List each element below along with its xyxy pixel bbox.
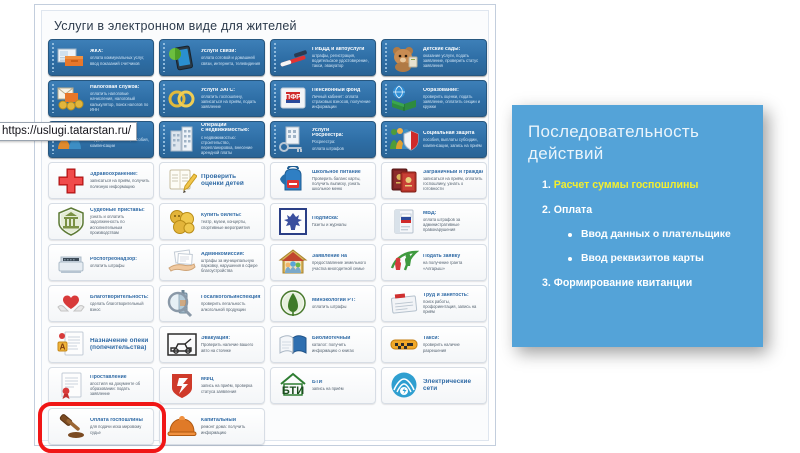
documents-folder-icon (56, 43, 86, 72)
service-tile[interactable]: Роспотребнадзор:оплатить штрафы (48, 244, 154, 281)
portal-content-area: Услуги в электронном виде для жителей ЖК… (41, 10, 489, 441)
service-tile[interactable]: Эвакуация:Проверить наличие вашего авто … (159, 326, 265, 363)
service-tile[interactable]: МВД:оплата штрафов за административные п… (381, 203, 487, 240)
tile-row: Здравоохранение:записаться на приём, пол… (48, 162, 482, 199)
services-tile-grid: ЖКХ:оплата коммунальных услуг, ввод пока… (48, 39, 482, 445)
tile-text: МФЦзапись на приём, проверка статуса зая… (201, 377, 264, 394)
tile-text: Такси:проверить наличие разрешения (423, 336, 486, 353)
tile-subtext: проверить оценки, подать заявление, опла… (423, 94, 483, 110)
service-tile[interactable]: Админкомиссия:штрафы за муниципальную па… (159, 244, 265, 281)
service-tile[interactable]: Услуги ЗАГС:оплатить госпошлину, записат… (159, 80, 265, 117)
tile-subtext: запись на приём, проверка статуса заявле… (201, 383, 261, 393)
magnifier-bottle-icon (167, 289, 197, 318)
service-tile[interactable]: Электрическиесети (381, 367, 487, 404)
tile-heading: МВД: (423, 211, 483, 216)
tile-heading: Госалкогольинспекция: (201, 295, 261, 300)
tile-heading: Минэкологии РТ: (312, 298, 372, 303)
tile-subtext: для подачи иска мировому судье (90, 424, 150, 434)
tile-text: Админкомиссия:штрафы за муниципальную па… (201, 252, 264, 274)
tile-heading: Эвакуация: (201, 336, 261, 341)
tile-text: Операциис недвижимостью:с недвижимостью:… (201, 123, 264, 155)
heart-hands-icon (56, 289, 86, 318)
bti-logo-icon: БТИ (278, 371, 308, 400)
tile-heading: Услуги ЗАГС: (201, 88, 261, 93)
substep-item: Ввод данных о плательщике (568, 229, 751, 240)
tile-text: Подписка:Газеты и журналы (312, 216, 375, 228)
tile-text: Роспотребнадзор:оплатить штрафы (90, 257, 153, 269)
tile-text: Электрическиесети (423, 379, 486, 392)
forestry-emblem-icon (278, 289, 308, 318)
tile-heading: Подписка: (312, 216, 372, 221)
svg-text:БТИ: БТИ (282, 385, 304, 397)
tile-text: МВД:оплата штрафов за административные п… (423, 211, 486, 233)
tile-row: ЖКХ:оплата коммунальных услуг, ввод пока… (48, 39, 482, 76)
tile-heading: Судебные приставы: (90, 208, 150, 213)
bailiffs-emblem-icon (56, 207, 86, 236)
tile-text: Капитальныйремонт дома: получить информа… (201, 418, 264, 435)
red-cross-icon (56, 166, 86, 195)
tile-text: Заявление напредоставление земельного уч… (312, 254, 375, 271)
service-tile[interactable]: Проставлениеапостиля на документе об обр… (48, 367, 154, 404)
tile-subtext: оплата коммунальных услуг, ввод показани… (90, 55, 150, 65)
service-tile[interactable]: Госалкогольинспекция:проверить легальнос… (159, 285, 265, 322)
tile-heading: Детские сады: (423, 47, 483, 52)
tile-row: АНазначение опеки(попечительства)Эвакуац… (48, 326, 482, 363)
tow-truck-icon (167, 330, 197, 359)
tile-heading-line2: Росреестра: (312, 133, 372, 138)
tile-subtext: штрафы, регистрация, водительское удосто… (312, 53, 372, 69)
service-tile[interactable]: МФЦзапись на приём, проверка статуса зая… (159, 367, 265, 404)
tile-heading: Налоговая служба: (90, 85, 150, 90)
tile-subtext: проверить легальность алкогольной продук… (201, 301, 261, 311)
step-number: 1. (542, 179, 554, 191)
tile-subtext-line2: оплата штрафов (312, 146, 372, 151)
page-title: Услуги в электронном виде для жителей (48, 17, 482, 33)
wedding-rings-icon (167, 84, 197, 113)
tile-subtext: штрафы за муниципальную парковку, наруше… (201, 258, 261, 274)
tile-subtext: театр, музеи, концерты, спортивные мероп… (201, 219, 261, 229)
tile-subtext: с недвижимостью: строительство, переплан… (201, 135, 261, 156)
traffic-baton-icon (278, 43, 308, 72)
service-tile[interactable]: Социальная защитапособия, выплаты субсид… (381, 121, 487, 158)
service-tile[interactable]: УслугиРосреестра:Росреестра:оплата штраф… (270, 121, 376, 158)
tile-subtext: Проверить баланс карты, получить выписку… (312, 176, 372, 192)
tile-text: Социальная защитапособия, выплаты субсид… (423, 131, 486, 148)
eagle-emblem-icon (278, 207, 308, 236)
tile-heading: БТИ (312, 380, 372, 385)
notebook-pencil-icon (167, 166, 197, 195)
service-tile[interactable]: Оплата госпошлиныдля подачи иска мировом… (48, 408, 154, 445)
tile-heading: Труд и занятость: (423, 293, 483, 298)
theatre-masks-icon (167, 207, 197, 236)
service-tile[interactable]: Судебные приставы:узнать и оплатить задо… (48, 203, 154, 240)
key-building-icon (278, 125, 308, 154)
tile-text: Детские сады:оказание услуги, подать зая… (423, 47, 486, 69)
scales-icon (56, 248, 86, 277)
service-tile[interactable]: Минэкологии РТ:оплатить штрафы (270, 285, 376, 322)
tile-heading: ЖКХ: (90, 49, 150, 54)
service-tile[interactable]: БТИБТИзапись на приём (270, 367, 376, 404)
tile-subtext: оплатить налоговые начисления, налоговый… (90, 91, 150, 112)
tile-heading: Такси: (423, 336, 483, 341)
grant-people-icon (389, 248, 419, 277)
tile-subtext: поиск работы, профориентация, запись на … (423, 299, 483, 315)
tile-heading: Образование: (423, 88, 483, 93)
step-number: 3. (542, 277, 554, 289)
tile-heading: Капитальный (201, 418, 261, 423)
tile-subtext: оплатить штрафы (312, 304, 372, 309)
tile-heading: Социальная защита (423, 131, 483, 136)
apostille-doc-icon (56, 371, 86, 400)
tile-subtext: запись на приём (312, 386, 372, 391)
tile-text: Образование:проверить оценки, подать зая… (423, 88, 486, 110)
hard-hat-icon (167, 412, 197, 441)
open-book-icon (278, 330, 308, 359)
tile-subtext: Росреестра: (312, 139, 372, 144)
tile-text: Пенсионный фондЛичный кабинет: оплата ст… (312, 88, 375, 110)
service-tile[interactable]: Заграничный и гражданский паспорт:записа… (381, 162, 487, 199)
tile-text: ЖКХ:оплата коммунальных услуг, ввод пока… (90, 49, 153, 66)
tile-heading: Услуги связи: (201, 49, 261, 54)
tile-row: Налоговая служба:оплатить налоговые начи… (48, 80, 482, 117)
tile-text: Труд и занятость:поиск работы, профориен… (423, 293, 486, 315)
service-tile[interactable]: Образование:проверить оценки, подать зая… (381, 80, 487, 117)
substeps-list: Ввод данных о плательщикеВвод реквизитов… (542, 229, 751, 264)
school-backpack-icon (278, 166, 308, 195)
tile-subtext: Личный кабинет: оплата страховых взносов… (312, 94, 372, 110)
svg-text:ПФР: ПФР (285, 94, 301, 101)
service-tile[interactable]: Благотворительность:сделать благотворите… (48, 285, 154, 322)
passport-icon (389, 166, 419, 195)
tile-subtext: оказание услуги, подать заявление, прове… (423, 53, 483, 69)
tile-subtext: узнать и оплатить задолженность по испол… (90, 214, 150, 235)
tile-heading: МФЦ (201, 377, 261, 382)
step-item: 3. Формирование квитанции (542, 277, 751, 289)
tile-text: Эвакуация:Проверить наличие вашего авто … (201, 336, 264, 353)
svg-text:А: А (60, 343, 66, 352)
tile-text: УслугиРосреестра:Росреестра:оплата штраф… (312, 128, 375, 151)
step-label: Оплата (554, 204, 592, 216)
pension-fund-icon: ПФР (278, 84, 308, 113)
tile-text: Оплата госпошлиныдля подачи иска мировом… (90, 418, 153, 435)
step-label: Формирование квитанции (554, 277, 693, 289)
service-tile[interactable]: АНазначение опеки(попечительства) (48, 326, 154, 363)
service-tile[interactable]: Купить билеты:театр, музеи, концерты, сп… (159, 203, 265, 240)
sequence-of-actions-panel: Последовательность действий 1. Расчет су… (512, 105, 763, 347)
tile-text: ГИБДД и автоуслугиштрафы, регистрация, в… (312, 47, 375, 69)
steps-panel-title: Последовательность действий (528, 121, 751, 165)
tile-subtext: записаться на приём, оплатить госпошлину… (423, 176, 483, 192)
tile-subtext: оплата сотовой и домашней связи, интерне… (201, 55, 261, 65)
tile-text: Благотворительность:сделать благотворите… (90, 295, 153, 312)
tile-text: Купить билеты:театр, музеи, концерты, сп… (201, 213, 264, 230)
tile-text: Школьное питаниеПроверить баланс карты, … (312, 170, 375, 192)
tile-heading: Админкомиссия: (201, 252, 261, 257)
tile-heading: Благотворительность: (90, 295, 150, 300)
tile-heading: Оплата госпошлины (90, 418, 150, 423)
service-tile[interactable]: Детские сады:оказание услуги, подать зая… (381, 39, 487, 76)
tile-row: Проставлениеапостиля на документе об обр… (48, 367, 482, 404)
teddy-bear-icon (389, 43, 419, 72)
shield-family-icon (389, 125, 419, 154)
tile-subtext: апостиля на документе об образовании: по… (90, 381, 150, 397)
hand-papers-icon (167, 248, 197, 277)
tile-subtext: проверить наличие разрешения (423, 342, 483, 352)
substep-item: Ввод реквизитов карты (568, 253, 751, 264)
tile-subtext: ремонт дома: получить информацию (201, 424, 261, 434)
tax-envelope-icon (56, 84, 86, 113)
service-tile[interactable]: Подписка:Газеты и журналы (270, 203, 376, 240)
service-tile[interactable]: ГИБДД и автоуслугиштрафы, регистрация, в… (270, 39, 376, 76)
tile-text: Здравоохранение:записаться на приём, пол… (90, 172, 153, 189)
tile-text: Проставлениеапостиля на документе об обр… (90, 375, 153, 397)
guardianship-doc-icon: А (56, 330, 86, 359)
tile-subtext: предоставление земельного участка многод… (312, 260, 372, 270)
tile-subtext: каталог: получить информацию о книгах (312, 342, 372, 352)
service-tile[interactable]: Школьное питаниеПроверить баланс карты, … (270, 162, 376, 199)
tile-text: Назначение опеки(попечительства) (90, 338, 153, 351)
tile-heading: Заявление на (312, 254, 372, 259)
tile-subtext: оплатить госпошлину, записаться на приём… (201, 94, 261, 110)
tile-row: Благотворительность:сделать благотворите… (48, 285, 482, 322)
tile-subtext: записаться на приём, получить полезную и… (90, 178, 150, 188)
tile-subtext: Газеты и журналы (312, 222, 372, 227)
tile-heading-line2: оценки детей (201, 181, 261, 187)
tile-text: БТИзапись на приём (312, 380, 375, 392)
tile-heading: Купить билеты: (201, 213, 261, 218)
tile-heading: Здравоохранение: (90, 172, 150, 177)
tile-heading: Библиотечный (312, 336, 372, 341)
tile-heading: Роспотребнадзор: (90, 257, 150, 262)
step-item: 2. Оплата (542, 204, 751, 216)
step-number: 2. (542, 204, 554, 216)
family-house-icon (278, 248, 308, 277)
tile-text: Заграничный и гражданский паспорт:записа… (423, 170, 486, 192)
service-tile[interactable]: Операциис недвижимостью:с недвижимостью:… (159, 121, 265, 158)
tile-heading: ГИБДД и автоуслуги (312, 47, 372, 52)
status-bar-url-tooltip: https://uslugi.tatarstan.ru/ (0, 122, 137, 141)
tile-heading: Школьное питание (312, 170, 372, 175)
tile-heading-line2: с недвижимостью: (201, 128, 261, 133)
tile-heading: Пенсионный фонд (312, 88, 372, 93)
service-tile[interactable]: Труд и занятость:поиск работы, профориен… (381, 285, 487, 322)
tile-subtext: оплата штрафов за административные право… (423, 217, 483, 233)
tile-heading: Заграничный и гражданский паспорт: (423, 170, 483, 175)
tile-subtext: оплатить штрафы (90, 263, 150, 268)
tile-subtext: пособия, выплаты субсидии, компенсации, … (423, 137, 483, 147)
tile-text: Услуги связи:оплата сотовой и домашней с… (201, 49, 264, 66)
tile-row: Судебные приставы:узнать и оплатить задо… (48, 203, 482, 240)
service-tile[interactable]: Здравоохранение:записаться на приём, пол… (48, 162, 154, 199)
book-globe-icon (389, 84, 419, 113)
mfc-logo-icon (167, 371, 197, 400)
taxi-sign-icon (389, 330, 419, 359)
gavel-icon (56, 412, 86, 441)
service-tile[interactable]: Библиотечныйкаталог: получить информацию… (270, 326, 376, 363)
service-tile[interactable]: ПФРПенсионный фондЛичный кабинет: оплата… (270, 80, 376, 117)
tile-text: Проверитьоценки детей (201, 174, 264, 187)
service-tile[interactable]: Налоговая служба:оплатить налоговые начи… (48, 80, 154, 117)
service-tile[interactable]: Подать заявкуна получение гранта «Алгары… (381, 244, 487, 281)
tile-text: Услуги ЗАГС:оплатить госпошлину, записат… (201, 88, 264, 110)
mobile-phone-icon (167, 43, 197, 72)
tile-subtext: Проверить наличие вашего авто на стоянке (201, 342, 261, 352)
tile-heading: Проставление (90, 375, 150, 380)
tile-row: Оплата госпошлиныдля подачи иска мировом… (48, 408, 482, 445)
service-tile[interactable]: Заявление напредоставление земельного уч… (270, 244, 376, 281)
service-tile[interactable]: Капитальныйремонт дома: получить информа… (159, 408, 265, 445)
tile-heading-line2: (попечительства) (90, 345, 150, 351)
step-label: Расчет суммы госпошлины (554, 179, 699, 191)
tile-text: Налоговая служба:оплатить налоговые начи… (90, 85, 153, 112)
service-tile[interactable]: Услуги связи:оплата сотовой и домашней с… (159, 39, 265, 76)
service-tile[interactable]: Проверитьоценки детей (159, 162, 265, 199)
portal-window: Услуги в электронном виде для жителей ЖК… (34, 4, 496, 446)
tile-text: Госалкогольинспекция:проверить легальнос… (201, 295, 264, 312)
tile-heading-line2: сети (423, 386, 483, 392)
service-tile[interactable]: ЖКХ:оплата коммунальных услуг, ввод пока… (48, 39, 154, 76)
tile-text: Подать заявкуна получение гранта «Алгары… (423, 254, 486, 271)
tile-heading: Подать заявку (423, 254, 483, 259)
tile-text: Минэкологии РТ:оплатить штрафы (312, 298, 375, 310)
employment-card-icon (389, 289, 419, 318)
service-tile[interactable]: Такси:проверить наличие разрешения (381, 326, 487, 363)
buildings-icon (167, 125, 197, 154)
mvd-book-icon (389, 207, 419, 236)
tile-text: Судебные приставы:узнать и оплатить задо… (90, 208, 153, 235)
step-item: 1. Расчет суммы госпошлины (542, 179, 751, 191)
tile-subtext: на получение гранта «Алгарыш» (423, 260, 483, 270)
steps-list: 1. Расчет суммы госпошлины2. ОплатаВвод … (528, 179, 751, 289)
tile-subtext: сделать благотворительный взнос (90, 301, 150, 311)
power-grid-icon (389, 371, 419, 400)
tile-text: Библиотечныйкаталог: получить информацию… (312, 336, 375, 353)
tile-row: Роспотребнадзор:оплатить штрафыАдминкоми… (48, 244, 482, 281)
